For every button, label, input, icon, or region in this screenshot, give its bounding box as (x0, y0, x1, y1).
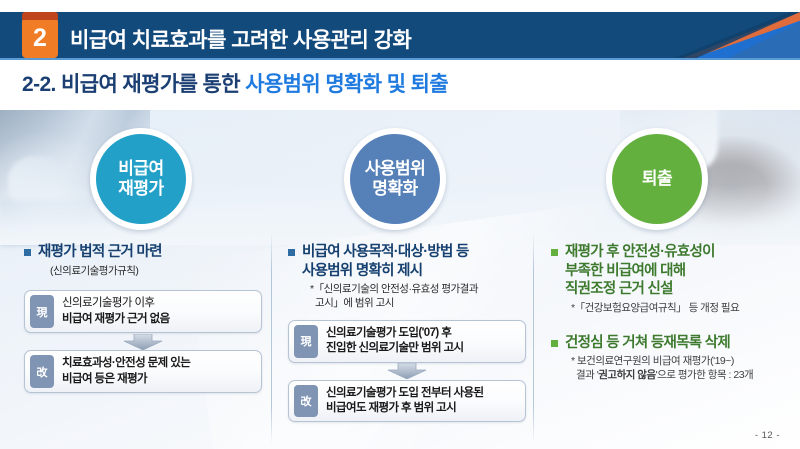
subtitle-prefix: 2-2. 비급여 재평가를 통한 (22, 73, 245, 96)
page-title: 2-2. 비급여 재평가를 통한 사용범위 명확화 및 퇴출 (22, 68, 448, 98)
square-bullet-icon (551, 249, 558, 256)
square-bullet-icon (288, 249, 295, 256)
col3-note-2-line1: * 보건의료연구원의 비급여 재평가('19~) (571, 355, 734, 367)
arrow-down-icon (24, 333, 262, 350)
col1-state-box-current: 現 신의료기술평가 이후 비급여 재평가 근거 없음 (24, 290, 262, 333)
square-bullet-icon (551, 340, 558, 347)
col2-state-box-current: 現 신의료기술평가 도입('07) 후 진입한 신의료기술만 범위 고시 (288, 320, 526, 363)
header-bar: 2 비급여 치료효과를 고려한 사용관리 강화 (0, 12, 800, 60)
col2-current-line2: 진입한 신의료기술만 범위 고시 (326, 342, 464, 354)
col3-heading-1-line1: 재평가 후 안전성·유효성이 (565, 244, 715, 260)
subtitle-highlight: 사용범위 명확화 및 퇴출 (245, 73, 448, 96)
col1-current-line1: 신의료기술평가 이후 (62, 297, 154, 309)
col2-note-line1: *「신의료기술의 안전성·유효성 평가결과 (310, 283, 478, 295)
col3-heading-1-line2: 부족한 비급여에 대해 (565, 263, 685, 279)
col3-note-2c: '으로 평가한 항목 : 23개 (656, 369, 754, 381)
column-scope-clarification: 비급여 사용목적·대상·방법 등 사용범위 명확히 제시 *「신의료기술의 안전… (288, 243, 526, 422)
col3-note-2-line2: 결과 '권고하지 않음'으로 평가한 항목 : 23개 (576, 369, 753, 383)
col1-revised-line1: 치료효과성·안전성 문제 있는 (62, 357, 190, 369)
col1-revised-text: 치료효과성·안전성 문제 있는 비급여 등은 재평가 (54, 351, 196, 392)
circle-3-line1: 퇴출 (642, 169, 672, 189)
col1-heading: 재평가 법적 근거 마련 (24, 243, 262, 262)
circle-bigeupyeo-jaepyeongga: 비급여 재평가 (90, 128, 192, 230)
circle-2-line1: 사용범위 (365, 159, 426, 179)
col1-heading-text: 재평가 법적 근거 마련 (38, 243, 162, 262)
col2-current-line1: 신의료기술평가 도입('07) 후 (326, 327, 451, 339)
col1-state-box-revised: 改 치료효과성·안전성 문제 있는 비급여 등은 재평가 (24, 350, 262, 393)
column-legal-basis: 재평가 법적 근거 마련 (신의료기술평가규칙) 現 신의료기술평가 이후 비급… (24, 243, 262, 393)
circle-toechul: 퇴출 (606, 128, 708, 230)
col3-note-2a: 결과 ' (576, 369, 598, 381)
col1-current-text: 신의료기술평가 이후 비급여 재평가 근거 없음 (54, 291, 176, 332)
col3-note-2b: 권고하지 않음 (598, 369, 655, 381)
state-tag-revised: 改 (294, 385, 318, 418)
col2-revised-text: 신의료기술평가 도입 전부터 사용된 비급여도 재평가 후 범위 고시 (318, 381, 489, 422)
col1-note: (신의료기술평가규칙) (50, 265, 262, 279)
column-divider-2 (533, 232, 534, 444)
circle-1-line1: 비급여 (118, 159, 163, 179)
header-title: 비급여 치료효과를 고려한 사용관리 강화 (70, 24, 411, 54)
col3-note-1: *「건강보험요양급여규칙」 등 개정 필요 (571, 302, 795, 316)
section-number-badge: 2 (22, 18, 58, 58)
circle-2-line2: 명확화 (372, 179, 417, 199)
col2-heading: 비급여 사용목적·대상·방법 등 사용범위 명확히 제시 (288, 243, 526, 280)
col3-heading-1-text: 재평가 후 안전성·유효성이 부족한 비급여에 대해 직권조정 근거 신설 (565, 243, 715, 299)
column-exit: 재평가 후 안전성·유효성이 부족한 비급여에 대해 직권조정 근거 신설 *「… (551, 243, 795, 383)
col2-heading-line2: 사용범위 명확히 제시 (302, 263, 422, 279)
content-panel: 비급여 재평가 사용범위 명확화 퇴출 재평가 법적 근거 마련 (신의료기술평… (0, 110, 800, 449)
circle-1-line2: 재평가 (118, 179, 163, 199)
circle-sayongbeomwi-myeonghwakhwa: 사용범위 명확화 (344, 128, 446, 230)
col2-note-line2: 고시」에 범위 고시 (315, 297, 394, 311)
col2-revised-line1: 신의료기술평가 도입 전부터 사용된 (326, 387, 483, 399)
page-number: - 12 - (755, 430, 780, 441)
header-decoration-icon (630, 12, 800, 60)
slide: 2 비급여 치료효과를 고려한 사용관리 강화 2-2. 비급여 재평가를 통한… (0, 0, 800, 449)
col3-heading-2-text: 건정심 등 거쳐 등재목록 삭제 (565, 334, 730, 353)
col1-revised-line2: 비급여 등은 재평가 (62, 373, 147, 385)
square-bullet-icon (24, 249, 31, 256)
col2-heading-text: 비급여 사용목적·대상·방법 등 사용범위 명확히 제시 (302, 243, 469, 280)
col3-note-2: * 보건의료연구원의 비급여 재평가('19~) 결과 '권고하지 않음'으로 … (571, 355, 795, 383)
state-tag-current: 現 (30, 295, 54, 328)
col1-current-line2: 비급여 재평가 근거 없음 (62, 313, 170, 325)
state-tag-current: 現 (294, 325, 318, 358)
col2-revised-line2: 비급여도 재평가 후 범위 고시 (326, 402, 456, 414)
col2-note: *「신의료기술의 안전성·유효성 평가결과 고시」에 범위 고시 (310, 283, 526, 311)
col2-current-text: 신의료기술평가 도입('07) 후 진입한 신의료기술만 범위 고시 (318, 321, 470, 362)
column-divider-1 (271, 232, 272, 444)
col2-heading-line1: 비급여 사용목적·대상·방법 등 (302, 244, 469, 260)
col3-heading-2: 건정심 등 거쳐 등재목록 삭제 (551, 334, 795, 353)
state-tag-revised: 改 (30, 355, 54, 388)
col3-heading-1-line3: 직권조정 근거 신설 (565, 281, 673, 297)
col3-heading-1: 재평가 후 안전성·유효성이 부족한 비급여에 대해 직권조정 근거 신설 (551, 243, 795, 299)
arrow-down-icon (288, 363, 526, 380)
col2-state-box-revised: 改 신의료기술평가 도입 전부터 사용된 비급여도 재평가 후 범위 고시 (288, 380, 526, 423)
